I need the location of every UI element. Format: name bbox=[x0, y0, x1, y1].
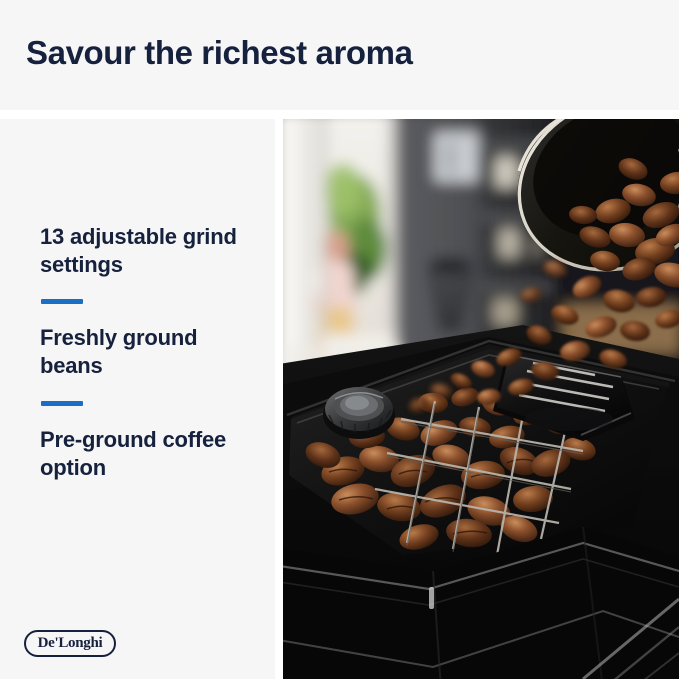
feature-item-1: 13 adjustable grind settings bbox=[40, 223, 255, 279]
product-photo bbox=[283, 119, 679, 679]
grind-adjustment-knob bbox=[323, 387, 395, 439]
header-separator bbox=[0, 110, 679, 119]
product-photo-illustration bbox=[283, 119, 679, 679]
divider-dash-2 bbox=[41, 401, 83, 406]
divider-dash-1 bbox=[41, 299, 83, 304]
page-title: Savour the richest aroma bbox=[26, 34, 413, 72]
brand-logo: De'Longhi bbox=[24, 630, 116, 657]
feature-list: 13 adjustable grind settings Freshly gro… bbox=[40, 223, 255, 482]
header-band: Savour the richest aroma bbox=[0, 0, 679, 110]
feature-item-2: Freshly ground beans bbox=[40, 324, 255, 380]
feature-item-3: Pre-ground coffee option bbox=[40, 426, 255, 482]
promo-card: Savour the richest aroma 13 adjustable g… bbox=[0, 0, 679, 679]
feature-panel: 13 adjustable grind settings Freshly gro… bbox=[0, 119, 275, 679]
brand-logo-label: De'Longhi bbox=[38, 636, 103, 651]
